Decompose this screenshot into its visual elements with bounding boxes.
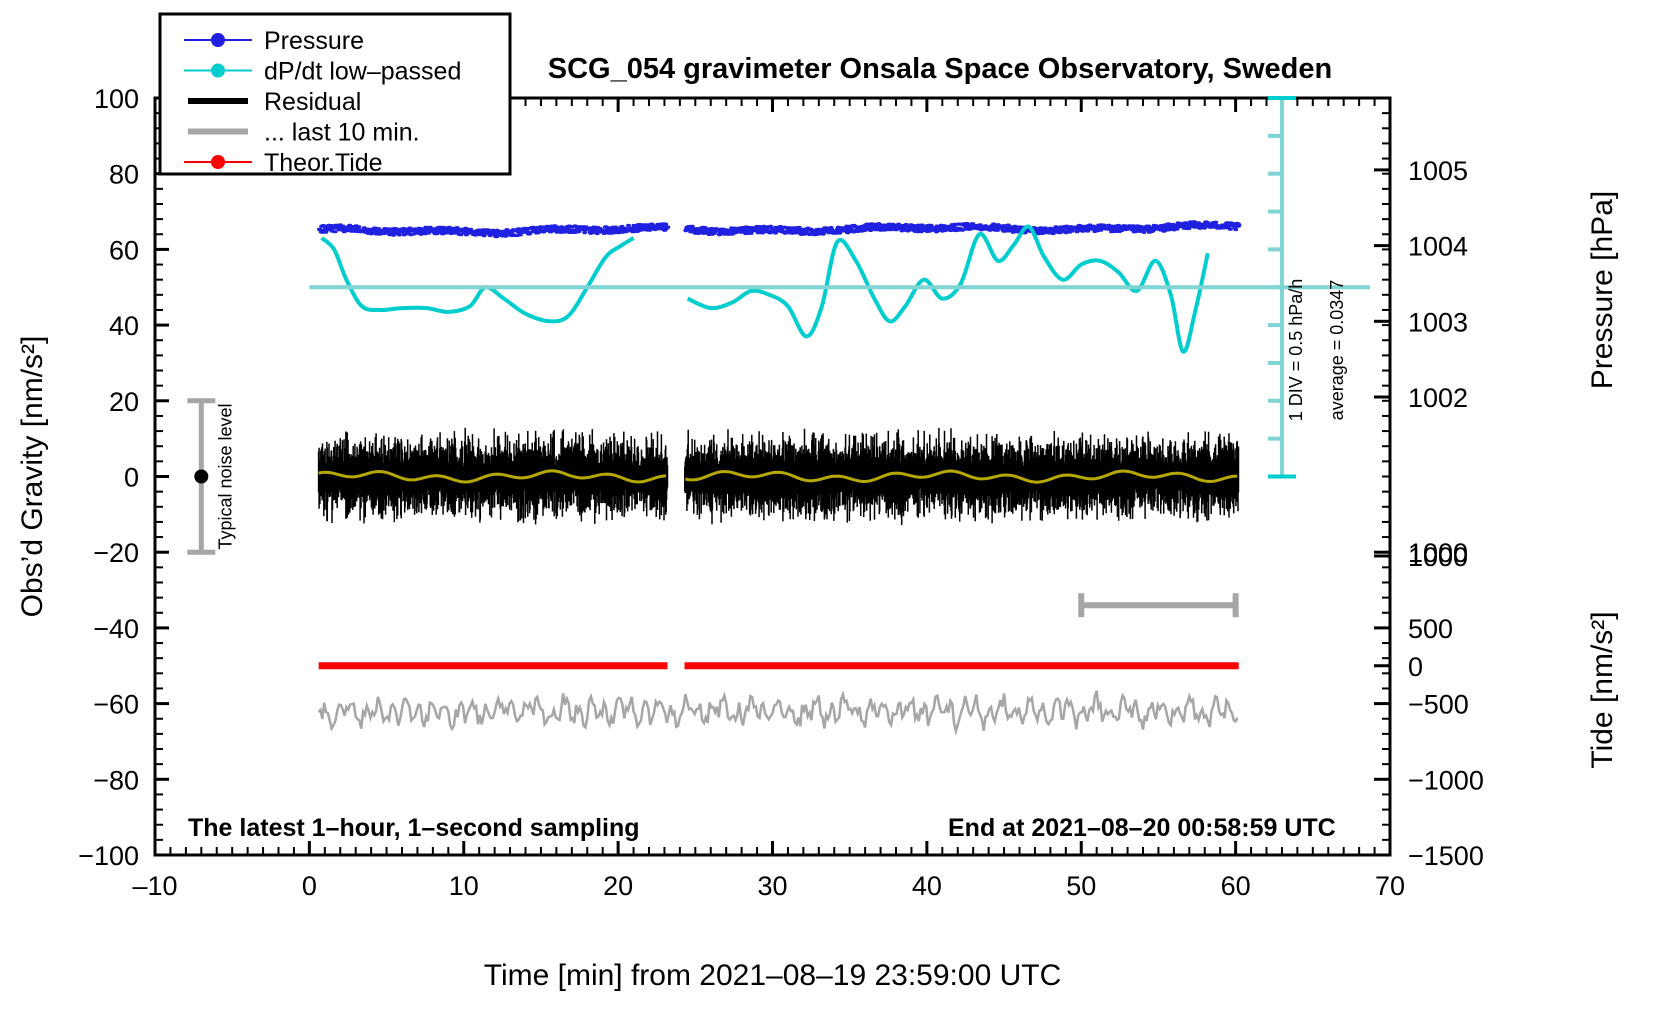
legend-marker-0 bbox=[211, 33, 225, 47]
y-left-tick-8: −60 bbox=[93, 690, 139, 720]
y-right-tide-label-5: −1500 bbox=[1408, 841, 1484, 871]
y-right-tide-label-2: 0 bbox=[1408, 652, 1423, 682]
x-tick-label-0: 0 bbox=[302, 871, 317, 901]
y-left-tick-4: 20 bbox=[109, 387, 139, 417]
plot-figure: –10010203040506070Time [min] from 2021–0… bbox=[0, 0, 1660, 1020]
y-right-pressure-label-3: 1002 bbox=[1408, 383, 1468, 413]
x-tick-label-60: 60 bbox=[1221, 871, 1251, 901]
x-tick-label-30: 30 bbox=[757, 871, 787, 901]
y-right-pressure-label-0: 1005 bbox=[1408, 156, 1468, 186]
legend-marker-1 bbox=[211, 64, 225, 78]
y-left-tick-6: −20 bbox=[93, 538, 139, 568]
legend-label-1: dP/dt low–passed bbox=[264, 58, 461, 86]
y-left-tick-10: −100 bbox=[78, 841, 139, 871]
y-left-tick-5: 0 bbox=[124, 463, 139, 493]
y-right-tide-label-1: 500 bbox=[1408, 614, 1453, 644]
y-right-tide-label-0: 1000 bbox=[1408, 538, 1468, 568]
x-axis-label: Time [min] from 2021–08–19 23:59:00 UTC bbox=[484, 959, 1062, 992]
y-left-tick-9: −80 bbox=[93, 765, 139, 795]
y-left-tick-0: 100 bbox=[94, 84, 139, 114]
dpdt-scale-div-label: 1 DIV = 0.5 hPa/h bbox=[1286, 279, 1306, 422]
pressure-series bbox=[319, 222, 1240, 237]
x-tick-label-50: 50 bbox=[1066, 871, 1096, 901]
legend-label-2: Residual bbox=[264, 88, 361, 116]
legend-marker-4 bbox=[211, 155, 225, 169]
chart-svg: –10010203040506070Time [min] from 2021–0… bbox=[0, 0, 1660, 1020]
y-left-tick-2: 60 bbox=[109, 235, 139, 265]
footer-right-text: End at 2021–08–20 00:58:59 UTC bbox=[948, 814, 1336, 842]
x-tick-label-20: 20 bbox=[603, 871, 633, 901]
y-right-tide-label-4: −1000 bbox=[1408, 765, 1484, 795]
y-left-tick-1: 80 bbox=[109, 160, 139, 190]
noise-center-dot bbox=[194, 470, 208, 484]
legend-label-3: ... last 10 min. bbox=[264, 119, 420, 147]
x-tick-label-70: 70 bbox=[1375, 871, 1405, 901]
x-tick-label-–10: –10 bbox=[132, 871, 177, 901]
chart-title: SCG_054 gravimeter Onsala Space Observat… bbox=[548, 53, 1332, 85]
dpdt-scale-average-label: average = 0.0347 bbox=[1327, 280, 1347, 421]
y-right-pressure-axis-label: Pressure [hPa] bbox=[1586, 191, 1619, 389]
y-right-pressure-label-1: 1004 bbox=[1408, 232, 1468, 262]
dpdt-series-seg1 bbox=[322, 238, 634, 321]
last10-series bbox=[319, 691, 1238, 731]
footer-left-text: The latest 1–hour, 1–second sampling bbox=[188, 814, 640, 842]
y-left-tick-3: 40 bbox=[109, 311, 139, 341]
y-left-tick-7: −40 bbox=[93, 614, 139, 644]
legend-label-0: Pressure bbox=[264, 27, 364, 55]
y-right-tide-axis-label: Tide [nm/s²] bbox=[1586, 611, 1619, 768]
y-right-pressure-label-2: 1003 bbox=[1408, 307, 1468, 337]
y-right-tide-label-3: −500 bbox=[1408, 690, 1469, 720]
noise-level-label: Typical noise level bbox=[215, 403, 235, 549]
legend-label-4: Theor.Tide bbox=[264, 149, 383, 177]
x-tick-label-40: 40 bbox=[912, 871, 942, 901]
x-tick-label-10: 10 bbox=[449, 871, 479, 901]
y-left-axis-label: Obs’d Gravity [nm/s²] bbox=[16, 336, 49, 618]
